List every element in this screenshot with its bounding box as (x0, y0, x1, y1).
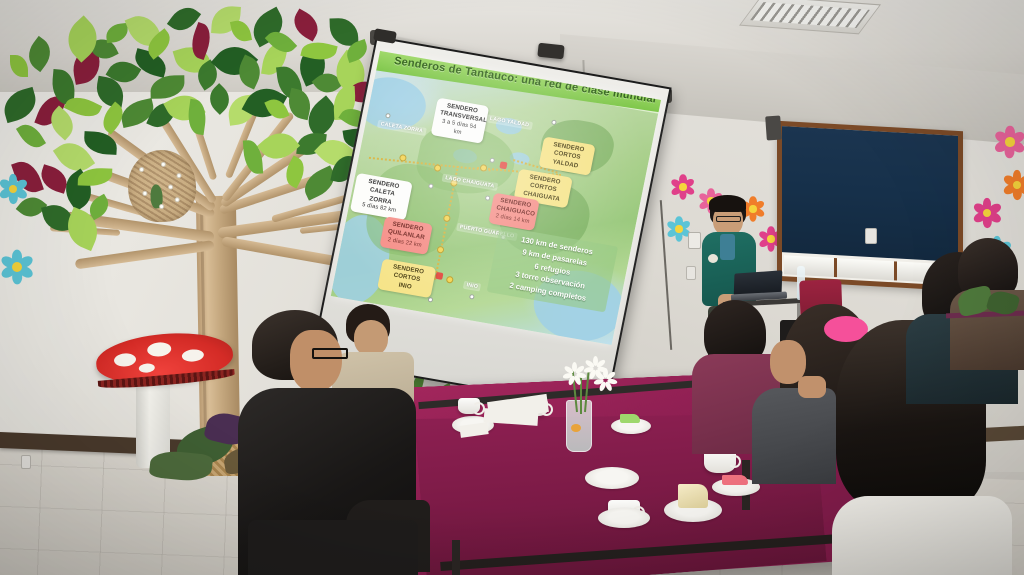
paper-flower-icon (1004, 172, 1024, 198)
flower-center (767, 235, 774, 242)
flower-center (12, 262, 22, 272)
nest-cell (176, 173, 181, 178)
projected-slide: CALETA ZORRA LAGO YALDAD LAGO CHAIGUATA … (331, 51, 661, 345)
window-mullion (894, 261, 897, 281)
window-mullion (834, 257, 837, 277)
map-marker (435, 272, 443, 280)
mushroom-spot (113, 353, 136, 368)
map-poi (485, 195, 491, 201)
presentation-room-photo: CALETA ZORRA LAGO YALDAD LAGO CHAIGUATA … (0, 0, 1024, 575)
slide-stats-box: 130 km de senderos 9 km de pasarelas 6 r… (487, 226, 618, 312)
nest-cell (139, 167, 144, 172)
presenter-badge (708, 254, 718, 263)
callout-sendero-cortos-inio: SENDERO CORTOS INIO (377, 258, 436, 298)
map-poi (427, 297, 433, 303)
attendee-head (290, 330, 342, 392)
map-poi (469, 294, 475, 300)
wall-socket (21, 455, 31, 469)
callout-sendero-chaiguaco: SENDERO CHAIGUACO 2 días 14 km (488, 193, 539, 231)
trail-node (446, 276, 454, 284)
ceiling-projector (537, 43, 564, 60)
white-flower (563, 364, 585, 380)
presenter-glasses (716, 216, 741, 222)
table-leg (452, 540, 460, 575)
nest-cell (175, 197, 180, 202)
chair-foreground[interactable] (248, 520, 418, 575)
saucer (585, 467, 639, 489)
green-dessert (620, 414, 640, 423)
nest-cell (168, 184, 173, 189)
coffee-cup (458, 398, 480, 414)
attendee-hand (798, 376, 826, 398)
presenter-shirt (720, 234, 735, 260)
paper-flower-icon (974, 200, 1000, 226)
callout-sendero-caleta-zorra: SENDERO CALETA ZORRA 5 días 82 km (350, 173, 413, 221)
map-label-inio: INIO (463, 281, 482, 292)
wall-socket (865, 228, 877, 244)
white-flower (594, 370, 616, 386)
saucer (598, 508, 650, 528)
orange-petal (571, 424, 581, 432)
nest-cell (142, 191, 147, 196)
attendee-glasses (312, 348, 348, 359)
slide-map: CALETA ZORRA LAGO YALDAD LAGO CHAIGUATA … (331, 65, 658, 345)
flower-center (1005, 137, 1014, 146)
attendee-sleeve (752, 388, 836, 484)
trail-node (436, 246, 444, 254)
mushroom-spot (147, 341, 172, 357)
nest-cell (161, 162, 166, 167)
presenter-hair-top (709, 195, 746, 212)
pink-dessert (722, 475, 748, 485)
wall-speaker (765, 116, 782, 141)
map-marker (499, 161, 507, 169)
cake-slice (678, 484, 708, 508)
mushroom-spot (181, 349, 204, 363)
paper-flower-icon (996, 128, 1024, 156)
mushroom-spot (138, 363, 155, 373)
nest-cell (159, 204, 164, 209)
attendee-white-top (832, 496, 1012, 575)
paper-flower-icon (0, 176, 26, 202)
paper-flower-icon (2, 252, 32, 282)
